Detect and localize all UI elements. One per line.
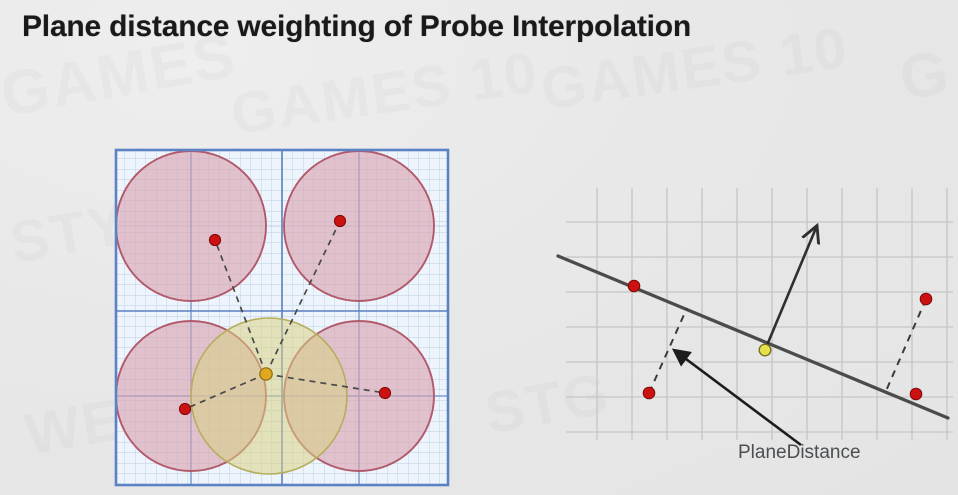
plane-distance-diagram [548,160,958,480]
probe-point-top-right [334,215,345,226]
probe-below-right [910,388,922,400]
probe-below-left [643,387,655,399]
probe-circle-top-right [284,151,434,301]
probe-point-top-left [209,234,220,245]
probe-circle-top-left [116,151,266,301]
slide-canvas: GAMESGAMES 10GAMES 10GSTYWESSTG Plane di… [0,0,958,495]
watermark-text: G [895,37,955,114]
probe-grid-svg [114,148,450,487]
probe-point-bottom-left [179,403,190,414]
plane-distance-svg [548,160,958,480]
probe-above-right [920,293,932,305]
page-title: Plane distance weighting of Probe Interp… [22,10,691,44]
right-grid-lines [566,188,953,440]
plane-line [558,256,948,418]
probe-point-bottom-right [379,387,390,398]
plane-sample-point [759,344,771,356]
watermark-text: GAMES 10 [227,39,543,148]
probe-on-plane [628,280,640,292]
sample-point [260,368,272,380]
distance-line-right [886,299,926,391]
distance-line-left [649,308,687,393]
right-distance-lines [649,299,926,393]
probe-grid-diagram [114,148,450,487]
plane-distance-label: PlaneDistance [738,442,861,464]
